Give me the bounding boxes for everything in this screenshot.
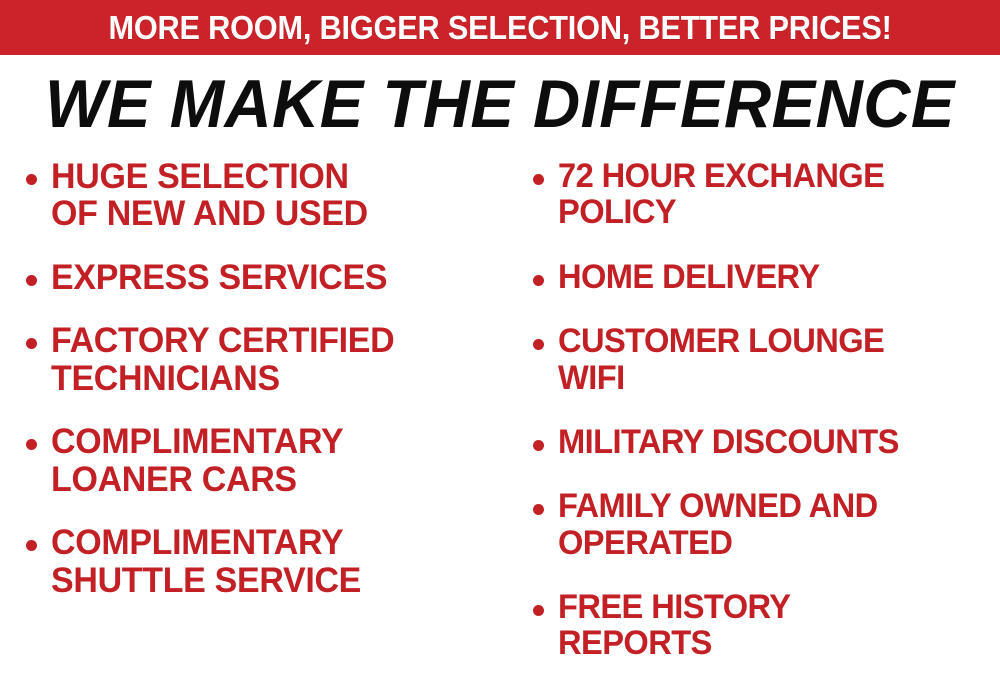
list-item: 72 HOUR EXCHANGE POLICY: [525, 158, 1000, 231]
benefit-label: CUSTOMER LOUNGE WIFI: [558, 323, 982, 396]
list-item: FAMILY OWNED AND OPERATED: [525, 488, 1000, 561]
list-item: EXPRESS SERVICES: [18, 259, 505, 296]
bullet-dot-icon: [533, 339, 544, 350]
list-item: MILITARY DISCOUNTS: [525, 424, 1000, 460]
benefit-label: EXPRESS SERVICES: [51, 259, 491, 296]
benefit-label: 72 HOUR EXCHANGE POLICY: [558, 158, 982, 231]
benefit-label: HOME DELIVERY: [558, 259, 982, 295]
bullet-dot-icon: [26, 174, 37, 185]
bullet-dot-icon: [26, 540, 37, 551]
bullet-dot-icon: [26, 338, 37, 349]
bullet-dot-icon: [533, 174, 544, 185]
benefit-list-left: HUGE SELECTION OF NEW AND USED EXPRESS S…: [18, 158, 505, 599]
benefits-column-right: 72 HOUR EXCHANGE POLICY HOME DELIVERY CU…: [505, 158, 1000, 690]
benefit-label: FACTORY CERTIFIED TECHNICIANS: [51, 322, 491, 397]
top-banner: MORE ROOM, BIGGER SELECTION, BETTER PRIC…: [0, 0, 1000, 55]
bullet-dot-icon: [26, 439, 37, 450]
list-item: HOME DELIVERY: [525, 259, 1000, 295]
bullet-dot-icon: [533, 275, 544, 286]
promotional-poster: MORE ROOM, BIGGER SELECTION, BETTER PRIC…: [0, 0, 1000, 694]
main-headline-text: WE MAKE THE DIFFERENCE: [45, 70, 955, 138]
benefits-columns: HUGE SELECTION OF NEW AND USED EXPRESS S…: [0, 158, 1000, 678]
benefit-label: COMPLIMENTARY LOANER CARS: [51, 423, 491, 498]
list-item: FACTORY CERTIFIED TECHNICIANS: [18, 322, 505, 397]
benefit-label: MILITARY DISCOUNTS: [558, 424, 982, 460]
bullet-dot-icon: [533, 440, 544, 451]
benefit-label: FREE HISTORY REPORTS: [558, 589, 982, 662]
list-item: FREE HISTORY REPORTS: [525, 589, 1000, 662]
list-item: COMPLIMENTARY LOANER CARS: [18, 423, 505, 498]
bullet-dot-icon: [533, 504, 544, 515]
benefits-column-left: HUGE SELECTION OF NEW AND USED EXPRESS S…: [0, 158, 505, 625]
main-headline: WE MAKE THE DIFFERENCE: [0, 70, 1000, 138]
banner-headline-text: MORE ROOM, BIGGER SELECTION, BETTER PRIC…: [108, 11, 891, 44]
benefit-label: COMPLIMENTARY SHUTTLE SERVICE: [51, 524, 491, 599]
list-item: HUGE SELECTION OF NEW AND USED: [18, 158, 505, 233]
list-item: CUSTOMER LOUNGE WIFI: [525, 323, 1000, 396]
list-item: COMPLIMENTARY SHUTTLE SERVICE: [18, 524, 505, 599]
benefit-label: HUGE SELECTION OF NEW AND USED: [51, 158, 491, 233]
bullet-dot-icon: [533, 605, 544, 616]
benefit-list-right: 72 HOUR EXCHANGE POLICY HOME DELIVERY CU…: [525, 158, 1000, 662]
bullet-dot-icon: [26, 275, 37, 286]
benefit-label: FAMILY OWNED AND OPERATED: [558, 488, 982, 561]
